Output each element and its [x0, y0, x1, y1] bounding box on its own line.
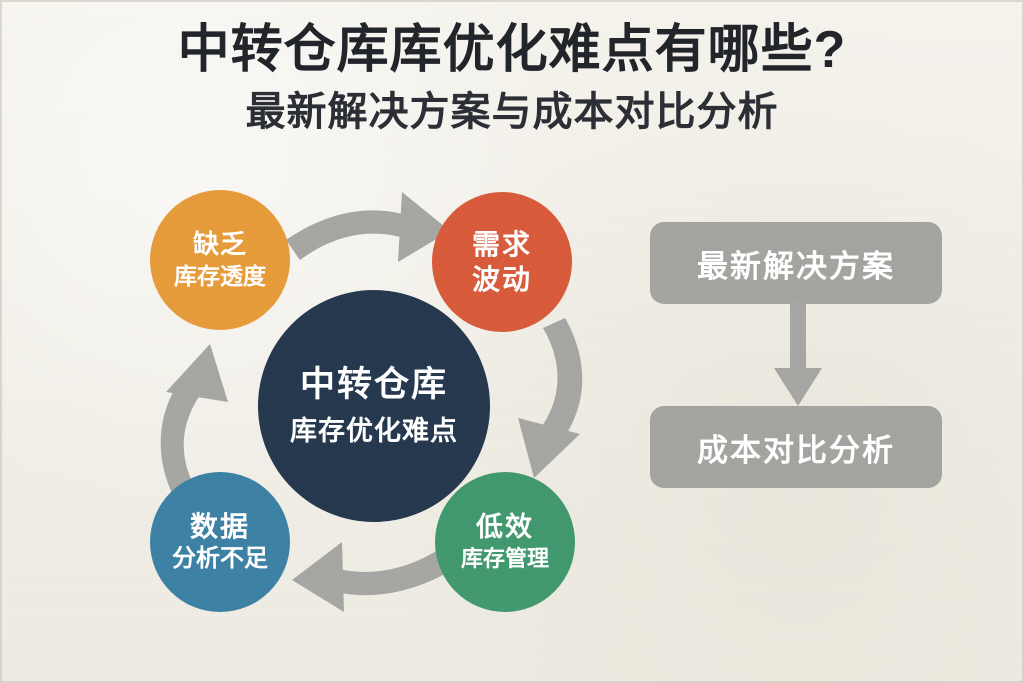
- cycle-center-node[interactable]: 中转仓库 库存优化难点: [258, 290, 490, 522]
- node-label-line2: 波动: [472, 264, 532, 295]
- solution-flow-panel: 最新解决方案 成本对比分析: [650, 222, 950, 472]
- page-title: 中转仓库库优化难点有哪些?: [0, 22, 1024, 78]
- node-label-line1: 数据: [190, 511, 250, 542]
- cycle-node-lack-of-visibility[interactable]: 缺乏 库存透度: [150, 190, 290, 330]
- flow-box-cost-comparison[interactable]: 成本对比分析: [650, 406, 942, 488]
- heading-block: 中转仓库库优化难点有哪些? 最新解决方案与成本对比分析: [0, 22, 1024, 134]
- node-label-line2: 库存透度: [174, 264, 266, 290]
- infographic-canvas: 中转仓库库优化难点有哪些? 最新解决方案与成本对比分析: [0, 0, 1024, 683]
- cycle-diagram: 缺乏 库存透度 需求 波动 低效 库存管理 数据 分析不足 中转仓库 库存优化难…: [110, 178, 640, 648]
- page-subtitle: 最新解决方案与成本对比分析: [0, 90, 1024, 134]
- flow-box-label: 最新解决方案: [697, 241, 895, 286]
- arrow-green-to-blue-icon: [292, 542, 458, 612]
- cycle-node-insufficient-analysis[interactable]: 数据 分析不足: [150, 472, 290, 612]
- node-label-line1: 需求: [472, 229, 532, 260]
- flow-down-arrow-icon: [768, 300, 828, 412]
- flow-box-latest-solution[interactable]: 最新解决方案: [650, 222, 942, 304]
- node-label-line1: 缺乏: [193, 230, 247, 259]
- arrow-red-to-green-icon: [518, 318, 582, 478]
- arrow-orange-to-red-icon: [286, 192, 450, 262]
- node-label-line1: 低效: [476, 512, 534, 542]
- cycle-node-demand-fluctuation[interactable]: 需求 波动: [432, 192, 572, 332]
- node-label-line2: 库存管理: [461, 547, 549, 572]
- center-label-line2: 库存优化难点: [289, 416, 459, 446]
- flow-box-label: 成本对比分析: [697, 425, 895, 470]
- node-label-line2: 分析不足: [172, 546, 268, 573]
- cycle-node-inefficient-management[interactable]: 低效 库存管理: [435, 472, 575, 612]
- center-label-line1: 中转仓库: [300, 365, 448, 404]
